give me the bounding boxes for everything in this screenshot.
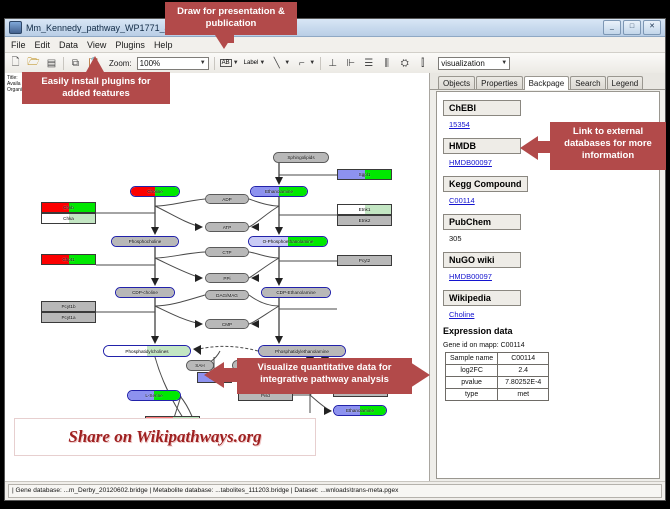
metabolite-node[interactable]: Ethanolamine bbox=[333, 405, 387, 416]
callout-plugins-text: Easily install plugins for added feature… bbox=[41, 76, 150, 99]
metabolite-node[interactable]: ATP bbox=[205, 222, 249, 232]
node-label: Ethanolamine bbox=[346, 408, 374, 413]
minimize-button[interactable]: _ bbox=[603, 20, 621, 35]
table-cell-value: 2.4 bbox=[498, 365, 549, 377]
metabolite-node[interactable]: Sphingolipids bbox=[273, 152, 329, 163]
database-link[interactable]: Choline bbox=[449, 310, 659, 319]
gene-id-label: Gene id on mapp: C00114 bbox=[443, 342, 659, 349]
title-bar: Mm_Kennedy_pathway_WP1771_45176.gpml _ □… bbox=[5, 19, 665, 37]
table-cell-value: C00114 bbox=[498, 353, 549, 365]
node-label: Chpt1 bbox=[62, 257, 74, 262]
table-cell-key: type bbox=[446, 389, 498, 401]
callout-links-stem bbox=[536, 141, 552, 153]
node-label: Phosphocholine bbox=[129, 239, 162, 244]
node-label: Sgpl1 bbox=[359, 172, 371, 177]
zoom-label: Zoom: bbox=[109, 59, 132, 68]
table-cell-key: pvalue bbox=[446, 377, 498, 389]
metabolite-node[interactable]: ADP bbox=[205, 194, 249, 204]
menu-bar[interactable]: File Edit Data View Plugins Help bbox=[5, 37, 665, 53]
callout-visualize: Visualize quantitative data for integrat… bbox=[237, 358, 412, 394]
database-link[interactable]: HMDB00097 bbox=[449, 272, 659, 281]
database-value: 305 bbox=[449, 234, 659, 243]
callout-draw-stem bbox=[224, 33, 234, 43]
zoom-combobox[interactable]: 100% ▼ bbox=[137, 57, 209, 70]
table-row: pvalue7.80252E-4 bbox=[446, 377, 549, 389]
node-label: O-Phosphoethanolamine bbox=[263, 239, 314, 244]
screenshot-root: Mm_Kennedy_pathway_WP1771_45176.gpml _ □… bbox=[0, 0, 670, 509]
node-label: L-Serine bbox=[145, 393, 162, 398]
group-icon[interactable]: ⛭ bbox=[398, 57, 411, 70]
chevron-down-icon: ▼ bbox=[501, 60, 507, 66]
callout-share: Share on Wikipathways.org bbox=[14, 418, 316, 456]
node-label: PPi bbox=[223, 276, 230, 281]
database-block: WikipediaCholine bbox=[443, 288, 659, 319]
metabolite-node[interactable]: Ethanolamine bbox=[250, 186, 308, 197]
database-name: NuGO wiki bbox=[443, 252, 521, 268]
node-label: ADP bbox=[222, 197, 231, 202]
database-block: PubChem305 bbox=[443, 212, 659, 243]
close-button[interactable]: ✕ bbox=[643, 20, 661, 35]
metabolite-node[interactable]: O-Phosphoethanolamine bbox=[248, 236, 328, 247]
callout-draw: Draw for presentation & publication bbox=[165, 2, 297, 35]
table-cell-key: Sample name bbox=[446, 353, 498, 365]
database-name: ChEBI bbox=[443, 100, 521, 116]
label-tool[interactable]: Label ▼ bbox=[244, 60, 266, 66]
metabolite-node[interactable]: L-Serine bbox=[127, 390, 181, 401]
metabolite-node[interactable]: Phosphatidylethanolamine bbox=[258, 345, 346, 357]
gene-node[interactable]: Pcyt2 bbox=[337, 255, 392, 266]
toolbar-separator bbox=[63, 57, 64, 70]
metabolite-node[interactable]: CTP bbox=[205, 247, 249, 257]
tab-legend[interactable]: Legend bbox=[607, 76, 644, 89]
gene-node[interactable]: Pcyt1b bbox=[41, 301, 96, 312]
align-left-icon[interactable]: ⊩ bbox=[344, 57, 357, 70]
metabolite-node[interactable]: DAG/MAG bbox=[205, 290, 249, 300]
zoom-value: 100% bbox=[140, 59, 160, 68]
node-label: Etnk1 bbox=[359, 207, 371, 212]
text-tool-icon: AB bbox=[220, 59, 232, 67]
node-label: Chkb bbox=[63, 205, 74, 210]
toolbar-separator-3 bbox=[320, 57, 321, 70]
node-label: Etnk2 bbox=[359, 218, 371, 223]
menu-item-data[interactable]: Data bbox=[59, 40, 78, 50]
database-name: PubChem bbox=[443, 214, 521, 230]
text-tool[interactable]: AB ▼ bbox=[220, 59, 239, 67]
menu-item-plugins[interactable]: Plugins bbox=[115, 40, 145, 50]
node-label: DAG/MAG bbox=[216, 293, 238, 298]
database-block: NuGO wikiHMDB00097 bbox=[443, 250, 659, 281]
chevron-down-icon: ▼ bbox=[284, 60, 290, 66]
node-label: Ethanolamine bbox=[265, 189, 293, 194]
gene-node[interactable]: Etnk1 bbox=[337, 204, 392, 215]
visualization-value: visualization bbox=[441, 59, 485, 68]
new-file-icon[interactable]: 🗋 bbox=[9, 57, 22, 70]
metabolite-node[interactable]: Phosphocholine bbox=[111, 236, 179, 247]
gene-node[interactable]: Sgpl1 bbox=[337, 169, 392, 180]
chevron-down-icon: ▼ bbox=[259, 60, 265, 66]
gene-node[interactable]: Chkb bbox=[41, 202, 96, 213]
table-row: Sample nameC00114 bbox=[446, 353, 549, 365]
gene-node[interactable]: Etnk2 bbox=[337, 215, 392, 226]
table-cell-value: 7.80252E-4 bbox=[498, 377, 549, 389]
callout-plugins: Easily install plugins for added feature… bbox=[22, 72, 170, 104]
node-label: Choline bbox=[147, 189, 163, 194]
node-label: Phosphatidylethanolamine bbox=[275, 349, 329, 354]
app-icon bbox=[9, 21, 22, 34]
toolbar[interactable]: 🗋 🗁 ▤ ⧉ 📋 Zoom: 100% ▼ AB ▼ Label ▼ ╲ ▼ bbox=[5, 53, 665, 74]
metabolite-node[interactable]: Choline bbox=[130, 186, 180, 197]
node-label: CTP bbox=[222, 250, 231, 255]
align-center-icon[interactable]: ⊥ bbox=[326, 57, 339, 70]
callout-visualize-arrow-right-icon bbox=[410, 362, 430, 388]
callout-share-text: Share on Wikipathways.org bbox=[68, 427, 261, 447]
table-cell-key: log2FC bbox=[446, 365, 498, 377]
distribute-icon[interactable]: ☰ bbox=[362, 57, 375, 70]
callout-visualize-stem bbox=[222, 368, 240, 382]
expression-heading: Expression data bbox=[443, 326, 659, 336]
database-name: Wikipedia bbox=[443, 290, 521, 306]
node-label: Pcyt1a bbox=[61, 315, 75, 320]
node-label: Sphingolipids bbox=[287, 155, 314, 160]
tab-objects[interactable]: Objects bbox=[438, 76, 475, 89]
metabolite-node[interactable]: CDP-choline bbox=[115, 287, 175, 298]
open-folder-icon[interactable]: 🗁 bbox=[27, 57, 40, 70]
chevron-down-icon: ▼ bbox=[233, 60, 239, 66]
database-name: HMDB bbox=[443, 138, 521, 154]
line-tool[interactable]: ╲ ▼ bbox=[270, 57, 290, 70]
shape-tool[interactable]: ⌐ ▼ bbox=[295, 57, 315, 70]
side-panel-tabs[interactable]: ObjectsPropertiesBackpageSearchLegend bbox=[430, 73, 665, 90]
window-controls[interactable]: _ □ ✕ bbox=[603, 20, 661, 35]
callout-links: Link to external databases for more info… bbox=[550, 122, 666, 170]
connector-icon: ⌐ bbox=[295, 57, 308, 70]
visualization-combobox[interactable]: visualization ▼ bbox=[438, 57, 510, 70]
callout-visualize-arrow-left-icon bbox=[204, 362, 224, 388]
metabolite-node[interactable]: CDP-Ethanolamine bbox=[261, 287, 331, 298]
callout-links-text: Link to external databases for more info… bbox=[564, 126, 652, 161]
menu-item-edit[interactable]: Edit bbox=[35, 40, 51, 50]
metabolite-node[interactable]: PPi bbox=[205, 273, 249, 283]
node-label: Pcyt1b bbox=[61, 304, 75, 309]
copy-icon[interactable]: ⧉ bbox=[69, 57, 82, 70]
save-icon[interactable]: ▤ bbox=[45, 57, 58, 70]
menu-item-file[interactable]: File bbox=[11, 40, 26, 50]
metabolite-node[interactable]: CMP bbox=[205, 319, 249, 329]
gene-node[interactable]: Pcyt1a bbox=[41, 312, 96, 323]
maximize-button[interactable]: □ bbox=[623, 20, 641, 35]
ungroup-icon[interactable]: ⫿ bbox=[416, 57, 429, 70]
line-icon: ╲ bbox=[270, 57, 283, 70]
toolbar-separator-2 bbox=[214, 57, 215, 70]
database-name: Kegg Compound bbox=[443, 176, 528, 192]
node-label: CDP-Ethanolamine bbox=[276, 290, 315, 295]
table-cell-value: met bbox=[498, 389, 549, 401]
node-label: ATP bbox=[223, 225, 232, 230]
tab-search[interactable]: Search bbox=[570, 76, 605, 89]
table-row: typemet bbox=[446, 389, 549, 401]
status-text: | Gene database: ...m_Derby_20120602.bri… bbox=[8, 484, 662, 498]
node-label: Pcyt2 bbox=[359, 258, 371, 263]
stack-icon[interactable]: ⫼ bbox=[380, 57, 393, 70]
callout-draw-text: Draw for presentation & publication bbox=[177, 6, 285, 29]
gene-node[interactable]: Chpt1 bbox=[41, 254, 96, 265]
gene-node[interactable]: Chka bbox=[41, 213, 96, 224]
tab-backpage[interactable]: Backpage bbox=[524, 76, 570, 90]
database-link[interactable]: C00114 bbox=[449, 196, 659, 205]
table-row: log2FC2.4 bbox=[446, 365, 549, 377]
node-label: Chka bbox=[63, 216, 74, 221]
chevron-down-icon: ▼ bbox=[309, 60, 315, 66]
tab-properties[interactable]: Properties bbox=[476, 76, 522, 89]
database-block: Kegg CompoundC00114 bbox=[443, 174, 659, 205]
metabolite-node[interactable]: Phosphatidylcholines bbox=[103, 345, 191, 357]
status-bar: | Gene database: ...m_Derby_20120602.bri… bbox=[5, 481, 665, 500]
menu-item-view[interactable]: View bbox=[87, 40, 106, 50]
node-label: Phosphatidylcholines bbox=[125, 349, 168, 354]
chevron-down-icon: ▼ bbox=[200, 60, 206, 66]
label-tool-label: Label bbox=[244, 60, 259, 66]
callout-plugins-stem bbox=[91, 68, 100, 76]
expression-table: Sample nameC00114log2FC2.4pvalue7.80252E… bbox=[445, 352, 549, 401]
menu-item-help[interactable]: Help bbox=[154, 40, 173, 50]
callout-visualize-text: Visualize quantitative data for integrat… bbox=[258, 362, 392, 385]
node-label: CMP bbox=[222, 322, 232, 327]
node-label: CDP-choline bbox=[132, 290, 158, 295]
